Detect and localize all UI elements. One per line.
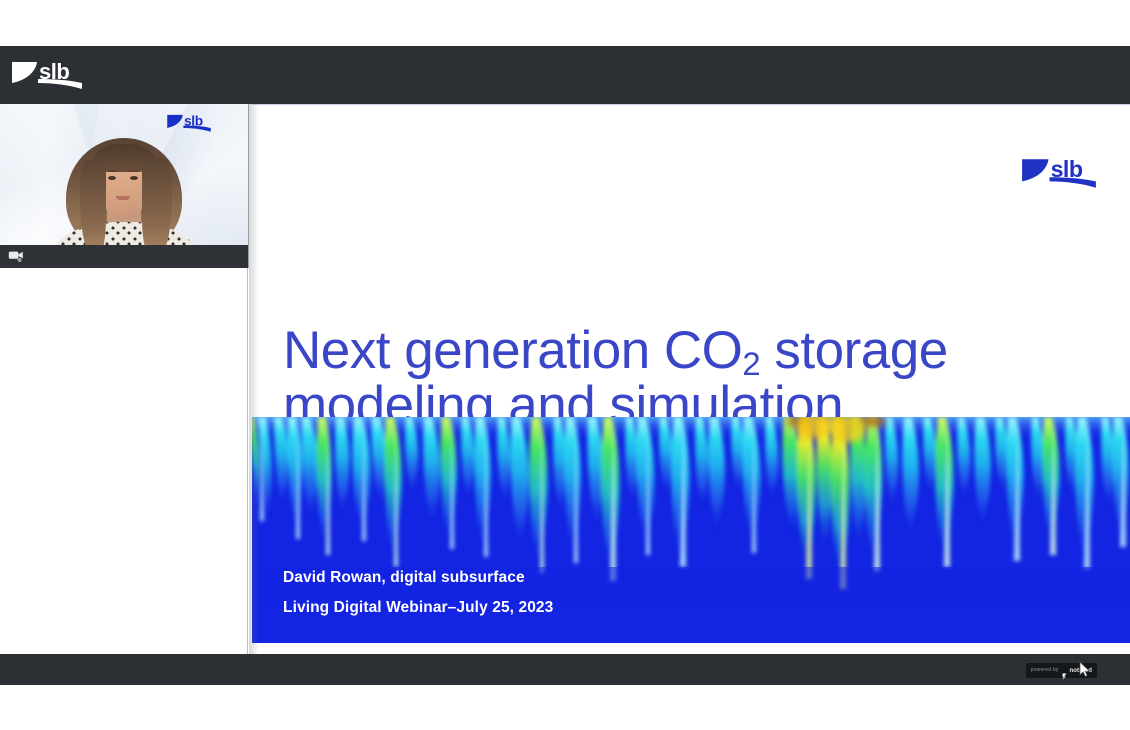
webinar-player-window: slb slb <box>0 0 1130 730</box>
sidebar-empty-area <box>0 268 248 654</box>
presenter-name-line: David Rowan, digital subsurface <box>283 569 525 586</box>
slb-logo-video-background: slb <box>166 112 212 134</box>
slide-title-part1: Next generation CO <box>283 321 742 380</box>
video-control-bar[interactable] <box>0 245 248 268</box>
event-line: Living Digital Webinar–July 25, 2023 <box>283 599 553 616</box>
top-chrome-bar: slb <box>0 46 1130 104</box>
simulation-image-band: David Rowan, digital subsurfaceLiving Di… <box>252 417 1130 643</box>
slide-title-subscript: 2 <box>742 345 760 382</box>
slide-viewer[interactable]: slb Next generation CO2 storagemodeling … <box>249 104 1130 654</box>
camera-icon[interactable] <box>8 250 24 263</box>
slide-title-part2: storage <box>760 321 948 380</box>
slb-logo-slide: slb <box>1020 154 1098 192</box>
left-sidebar: slb <box>0 104 249 654</box>
powered-by-label: powered by <box>1031 668 1059 673</box>
bottom-chrome-bar: powered by notified <box>0 654 1130 685</box>
eyebrow-left <box>107 170 117 172</box>
mouse-cursor <box>1079 661 1091 678</box>
presenter-avatar <box>58 134 190 245</box>
presenter-video-feed[interactable]: slb <box>0 104 248 245</box>
slide-caption-block: David Rowan, digital subsurfaceLiving Di… <box>283 563 553 623</box>
hair-strand-right <box>142 158 172 245</box>
slb-logo-header: slb <box>10 58 84 92</box>
presenter-video-panel[interactable]: slb <box>0 104 249 268</box>
slide-bottom-margin <box>252 643 1130 654</box>
eye-left <box>108 176 116 180</box>
mouth <box>116 196 130 200</box>
eye-right <box>130 176 138 180</box>
hair-strand-left <box>80 160 106 245</box>
eyebrow-right <box>129 170 139 172</box>
slide-top-divider <box>252 104 1130 105</box>
notified-mark-icon <box>1062 667 1067 674</box>
slide-surface: slb Next generation CO2 storagemodeling … <box>252 104 1130 654</box>
